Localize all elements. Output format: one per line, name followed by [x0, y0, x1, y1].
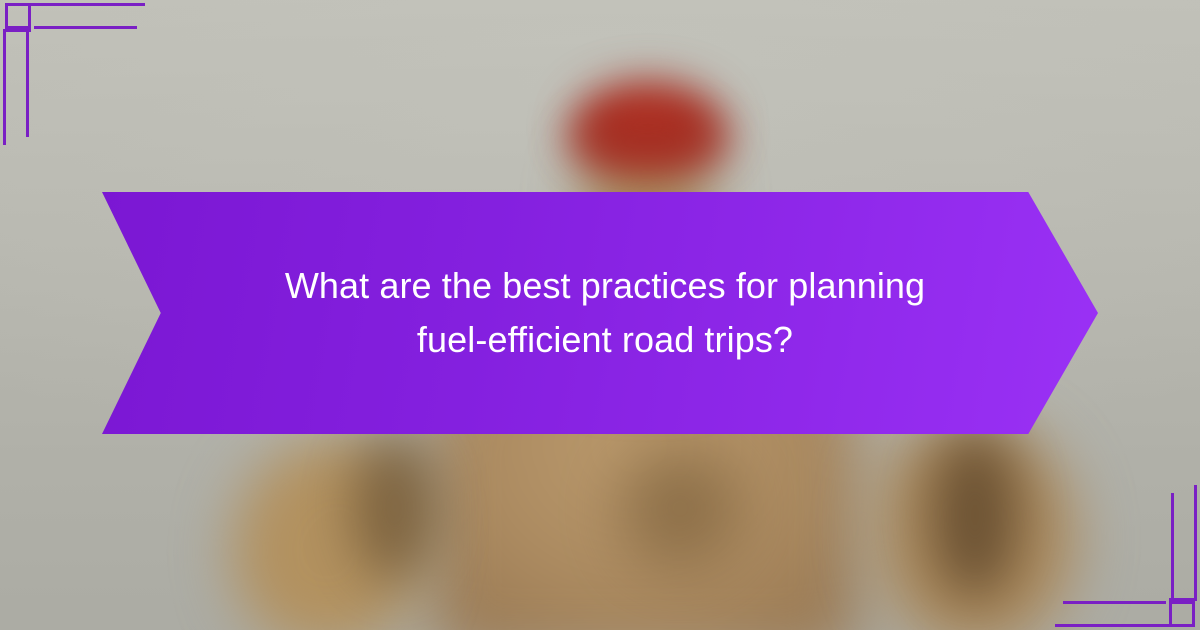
corner-line-vertical-outer-bottom-right [1194, 485, 1197, 601]
poster-canvas: What are the best practices for planning… [0, 0, 1200, 630]
figure-red-headband-brim [568, 120, 730, 164]
figure-right-arm-shadow [930, 430, 1020, 600]
corner-elbow-vertical-bottom-right [1169, 598, 1172, 627]
corner-elbow-vertical-top-left [28, 3, 31, 32]
corner-line-vertical-inner-top-left [26, 32, 29, 137]
headline-text: What are the best practices for planning… [225, 259, 985, 367]
corner-elbow-horizontal-bottom-right [1169, 598, 1197, 601]
figure-chest-shadow [620, 448, 740, 568]
corner-square-bottom-right [1169, 601, 1195, 627]
corner-line-horizontal-inner-bottom-right [1063, 601, 1166, 604]
headline-banner: What are the best practices for planning… [102, 192, 1098, 434]
corner-line-horizontal-inner-top-left [34, 26, 137, 29]
corner-line-horizontal-outer-top-left [31, 3, 145, 6]
figure-left-arm-shadow [352, 432, 438, 582]
corner-line-horizontal-outer-bottom-right [1055, 624, 1169, 627]
corner-line-vertical-inner-bottom-right [1171, 493, 1174, 598]
corner-line-vertical-outer-top-left [3, 29, 6, 145]
